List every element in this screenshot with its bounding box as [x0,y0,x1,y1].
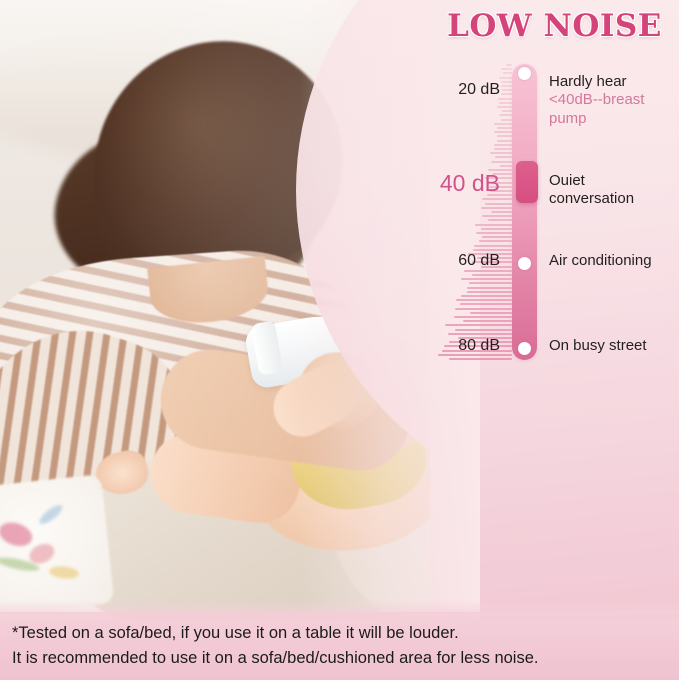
desc-80db: On busy street [549,337,679,355]
tick-mark [474,245,512,247]
tick-mark [490,152,512,154]
tick-mark [463,320,512,322]
tick-mark [500,165,512,167]
tick-mark [491,161,512,163]
tick-mark [499,114,513,116]
decibel-slider-track[interactable] [512,64,537,360]
tick-mark [456,299,512,301]
tick-mark [461,278,512,280]
db-label-40-text: 40 dB [414,170,500,197]
db-label-20-text: 20 dB [414,81,500,99]
tick-mark [482,198,512,200]
decibel-tick-marks [432,64,512,364]
tick-mark [470,312,512,314]
tick-mark [502,89,512,91]
footer-banner: *Tested on a sofa/bed, if you use it on … [0,612,679,680]
tick-mark [485,203,512,205]
tick-mark [501,119,512,121]
tick-mark [494,144,512,146]
tick-mark [501,85,512,87]
tick-mark [494,148,512,150]
tick-mark [472,274,512,276]
tick-mark [501,81,512,83]
desc-20db: Hardly hear <40dB--breast pump [549,73,679,128]
tick-mark [461,295,512,297]
tick-mark [476,232,512,234]
db-label-60-text: 60 dB [414,252,500,270]
tick-mark [454,316,512,318]
tick-mark [467,291,512,293]
desc-40db: Ouiet conversation [549,172,679,209]
tick-mark [467,287,512,289]
infographic-page: LOW NOISE 20 dB 40 dB 60 dB 80 dB Hardly… [0,0,679,680]
tick-mark [497,106,512,108]
tick-mark [469,282,512,284]
desc-20db-main: Hardly hear [549,73,627,90]
tick-mark [494,131,512,133]
tick-mark [449,358,513,360]
tick-mark [460,303,512,305]
tick-mark [497,127,512,129]
tick-mark [488,219,512,221]
tick-mark [448,333,512,335]
footer-line-2: It is recommended to use it on a sofa/be… [12,646,667,671]
page-title: LOW NOISE [430,8,679,44]
tick-mark [497,140,512,142]
slider-marker-80db[interactable] [518,342,531,355]
tick-mark [503,72,513,74]
tick-mark [501,93,512,95]
tick-mark [445,324,512,326]
tick-mark [464,270,512,272]
tick-mark [455,308,512,310]
tick-mark [495,156,512,158]
tick-mark [491,211,512,213]
slider-marker-60db[interactable] [518,257,531,270]
footer-line-1: *Tested on a sofa/bed, if you use it on … [12,621,667,646]
tick-mark [482,215,512,217]
tick-mark [475,224,512,226]
slider-marker-20db[interactable] [518,67,531,80]
desc-40db-main2: conversation [549,190,634,207]
slider-handle-40db[interactable] [516,161,538,203]
tick-mark [497,135,512,137]
desc-40db-main: Ouiet [549,172,585,189]
tick-mark [499,102,512,104]
desc-60db: Air conditioning [549,252,679,270]
tick-mark [455,329,512,331]
tick-mark [494,123,512,125]
tick-mark [479,240,512,242]
tick-mark [481,228,512,230]
desc-20db-sub: <40dB--breast pump [549,91,679,128]
desc-60db-main: Air conditioning [549,252,652,269]
tick-mark [499,77,512,79]
db-label-80-text: 80 dB [414,337,500,355]
tick-mark [482,236,512,238]
tick-mark [481,207,512,209]
tick-mark [501,68,512,70]
desc-80db-main: On busy street [549,337,647,354]
tick-mark [506,64,512,66]
tick-mark [473,249,512,251]
tick-mark [502,110,512,112]
